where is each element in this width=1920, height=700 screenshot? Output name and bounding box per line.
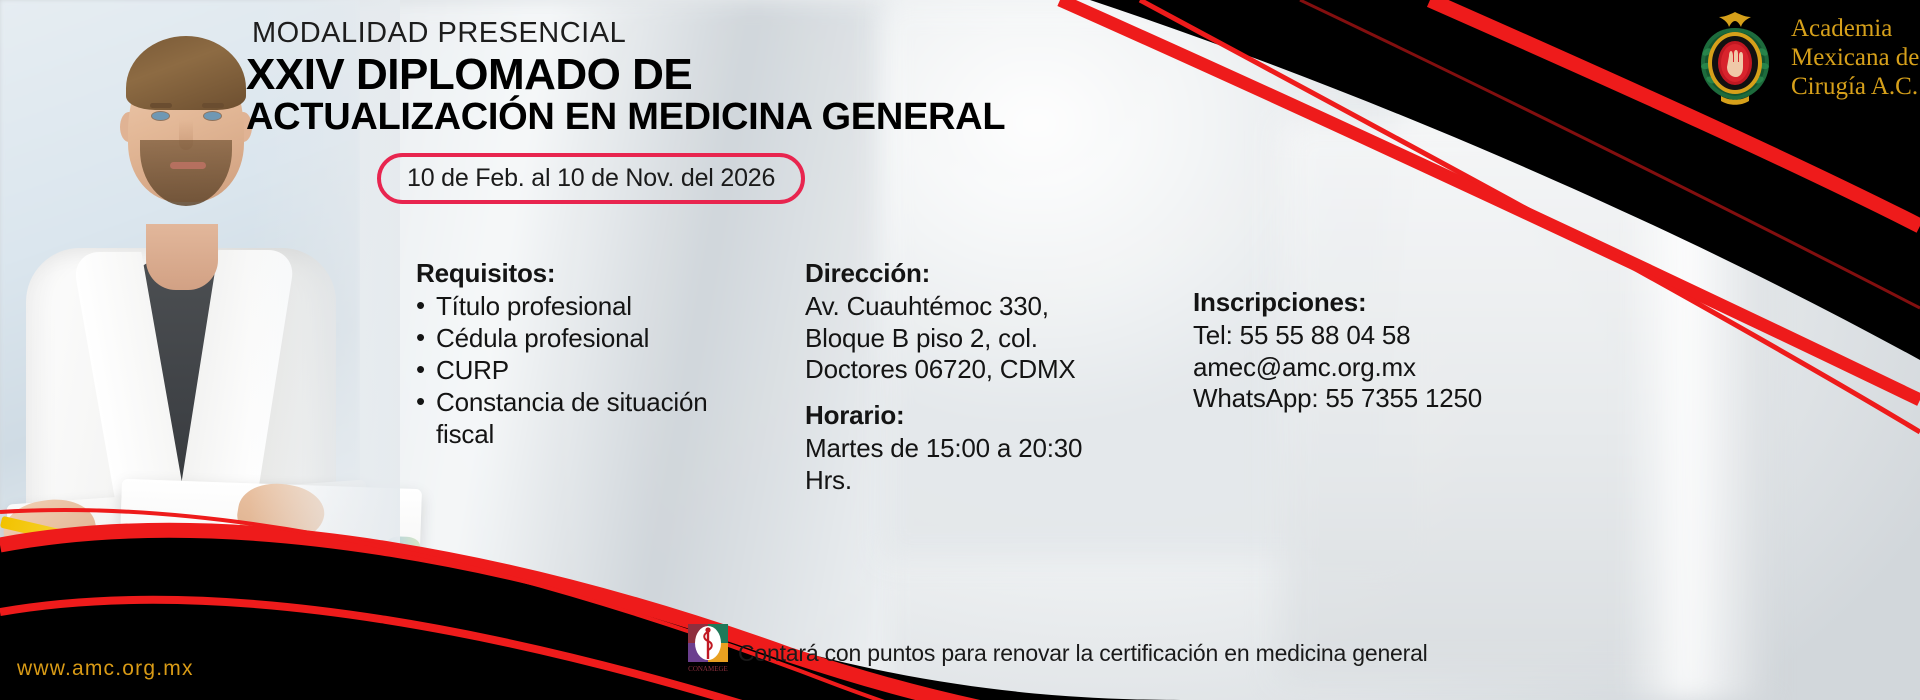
page-title-line-2: ACTUALIZACIÓN EN MEDICINA GENERAL — [246, 96, 1005, 139]
inscripciones-heading: Inscripciones: — [1193, 287, 1623, 318]
doctor-eyebrow-right — [202, 103, 224, 108]
date-badge: 10 de Feb. al 10 de Nov. del 2026 — [377, 153, 805, 204]
horario-block: Horario: Martes de 15:00 a 20:30 Hrs. — [805, 400, 1135, 496]
doctor-neck — [146, 224, 218, 290]
doctor-eye-right — [204, 112, 221, 120]
requisitos-column: Requisitos: Título profesional Cédula pr… — [416, 258, 776, 451]
certification-note: Contará con puntos para renovar la certi… — [738, 640, 1428, 667]
direccion-line: Av. Cuauhtémoc 330, — [805, 291, 1135, 323]
amc-logo-line-3: Cirugía A.C. — [1791, 72, 1919, 101]
amc-logo-line-1: Academia — [1791, 14, 1919, 43]
list-item: Cédula profesional — [416, 323, 776, 355]
kicker-text: MODALIDAD PRESENCIAL — [252, 17, 626, 50]
inscripciones-whatsapp: WhatsApp: 55 7355 1250 — [1193, 383, 1623, 415]
requisitos-heading: Requisitos: — [416, 258, 776, 289]
direccion-line: Doctores 06720, CDMX — [805, 354, 1135, 386]
background-light-streak — [1620, 200, 1770, 700]
direccion-column: Dirección: Av. Cuauhtémoc 330, Bloque B … — [805, 258, 1135, 497]
page-title-line-1: XXIV DIPLOMADO DE — [246, 50, 692, 100]
amc-logo-text: Academia Mexicana de Cirugía A.C. — [1791, 14, 1919, 101]
inscripciones-column: Inscripciones: Tel: 55 55 88 04 58 amec@… — [1193, 287, 1623, 415]
book-illustration-2 — [52, 575, 126, 606]
requisitos-list: Título profesional Cédula profesional CU… — [416, 291, 776, 419]
horario-heading: Horario: — [805, 400, 1135, 431]
date-badge-label: 10 de Feb. al 10 de Nov. del 2026 — [407, 164, 775, 193]
amc-logo: Academia Mexicana de Cirugía A.C. — [1691, 8, 1919, 106]
inscripciones-phone: Tel: 55 55 88 04 58 — [1193, 320, 1623, 352]
doctor-eye-left — [152, 112, 169, 120]
conamege-label: CONAMEGE — [688, 665, 728, 673]
list-item: CURP — [416, 355, 776, 387]
promotional-banner: MODALIDAD PRESENCIAL XXIV DIPLOMADO DE A… — [0, 0, 1920, 700]
direccion-line: Bloque B piso 2, col. — [805, 323, 1135, 355]
horario-line: Martes de 15:00 a 20:30 Hrs. — [805, 433, 1135, 496]
doctor-mouth — [170, 162, 206, 169]
amc-logo-line-2: Mexicana de — [1791, 43, 1919, 72]
amc-seal-icon — [1691, 8, 1779, 106]
website-url[interactable]: www.amc.org.mx — [17, 657, 194, 681]
conamege-logo-icon: CONAMEGE — [687, 623, 732, 675]
doctor-eyebrow-left — [150, 103, 172, 108]
list-item: Título profesional — [416, 291, 776, 323]
list-item: Constancia de situación — [416, 387, 776, 419]
inscripciones-email[interactable]: amec@amc.org.mx — [1193, 352, 1623, 384]
requisitos-item-4-continuation: fiscal — [416, 419, 776, 451]
direccion-heading: Dirección: — [805, 258, 1135, 289]
